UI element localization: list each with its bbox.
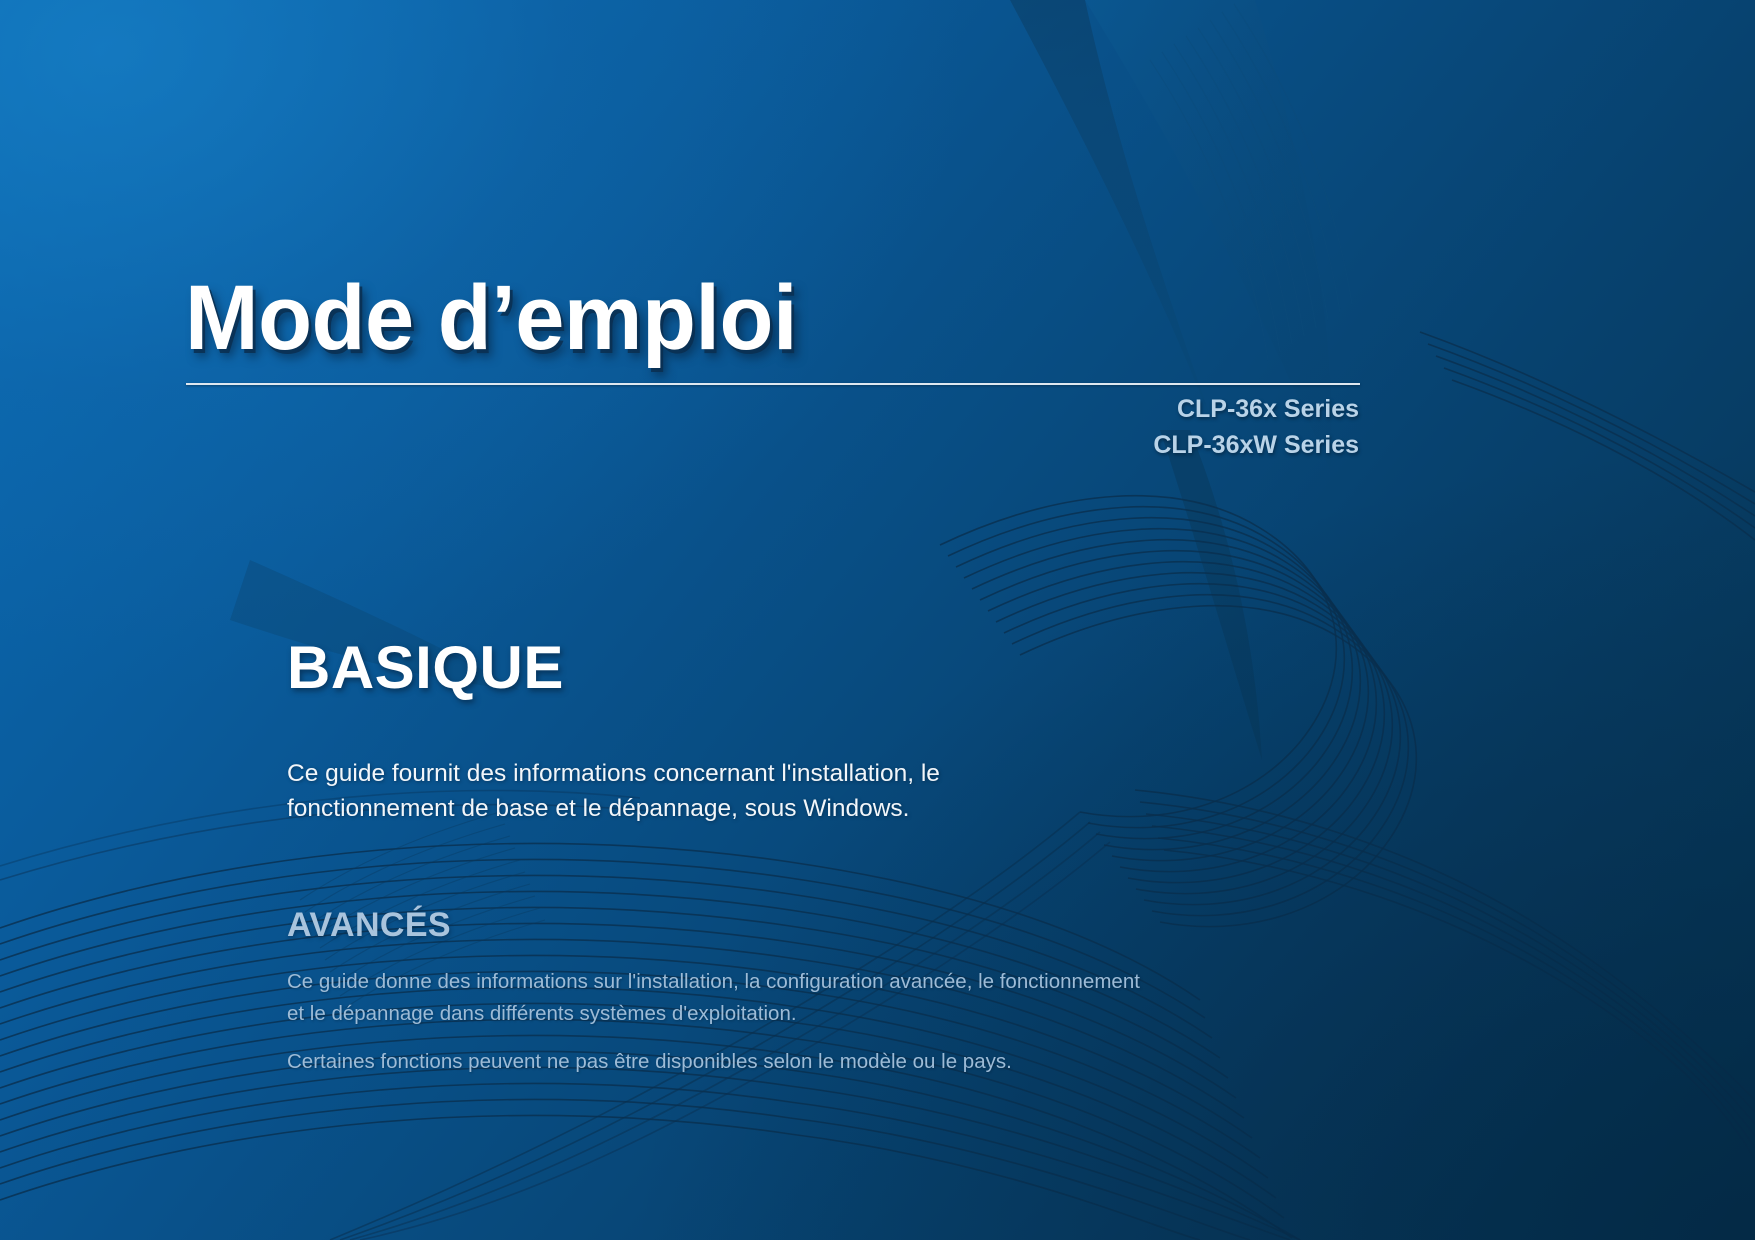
section-body-advanced-paragraph-2: Certaines fonctions peuvent ne pas être … xyxy=(287,1046,1147,1078)
model-series-list: CLP-36x Series CLP-36xW Series xyxy=(759,392,1359,463)
section-heading-basic: BASIQUE xyxy=(287,633,564,702)
section-body-advanced-paragraph-1: Ce guide donne des informations sur l'in… xyxy=(287,966,1147,1030)
model-series-item-1: CLP-36x Series xyxy=(759,392,1359,428)
section-heading-advanced: AVANCÉS xyxy=(287,906,451,945)
page-title: Mode d’emploi xyxy=(185,272,797,364)
section-body-basic: Ce guide fournit des informations concer… xyxy=(287,757,1077,827)
cover-page: Mode d’emploi CLP-36x Series CLP-36xW Se… xyxy=(0,0,1755,1240)
model-series-item-2: CLP-36xW Series xyxy=(759,428,1359,464)
section-body-advanced: Ce guide donne des informations sur l'in… xyxy=(287,966,1147,1078)
title-divider-rule xyxy=(186,383,1360,385)
